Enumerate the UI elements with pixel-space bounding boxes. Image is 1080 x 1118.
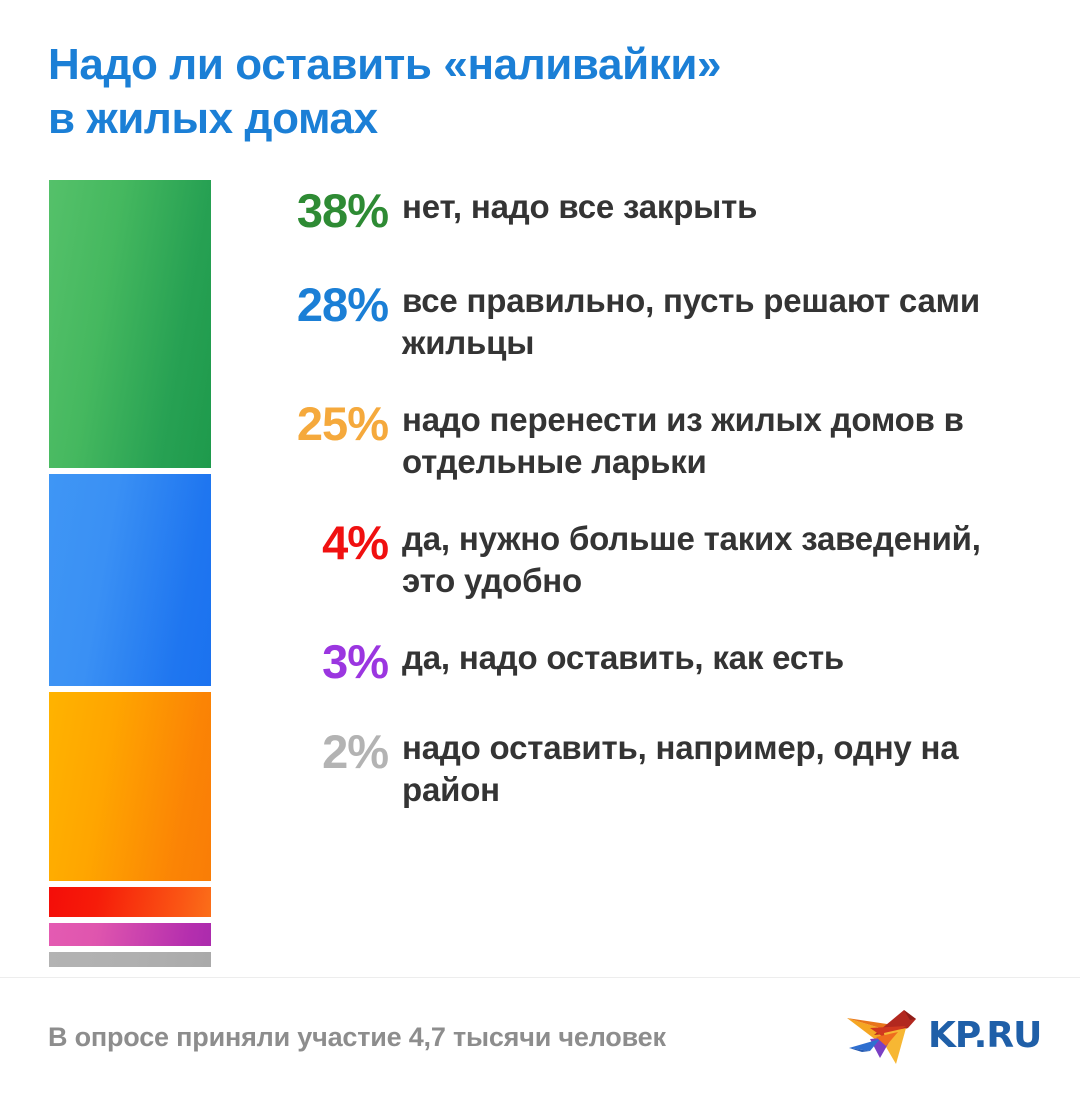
legend-percent: 3% [232,637,388,685]
legend-label: нет, надо все закрыть [388,186,1032,228]
legend: 38% нет, надо все закрыть 28% все правил… [232,186,1032,811]
bar-segment-green [49,180,211,468]
kp-ru-logo[interactable]: KP.RU [846,1005,1038,1067]
legend-percent: 28% [232,280,388,328]
legend-label: да, нужно больше таких заведений, это уд… [388,518,1032,601]
kp-ru-wordmark: KP.RU [928,1018,1041,1054]
bar-segment-blue [49,474,211,686]
legend-label: да, надо оставить, как есть [388,637,1032,679]
legend-percent: 38% [232,186,388,234]
legend-label: надо оставить, например, одну на район [388,727,1032,810]
legend-percent: 2% [232,727,388,775]
page-title: Надо ли оставить «наливайки» в жилых дом… [48,38,1008,145]
legend-percent: 25% [232,399,388,447]
bird-icon [846,1006,924,1066]
legend-percent: 4% [232,518,388,566]
bar-segment-red [49,887,211,917]
legend-label: надо перенести из жилых домов в отдельны… [388,399,1032,482]
bar-segment-gray [49,952,211,967]
legend-row: 25% надо перенести из жилых домов в отде… [232,399,1032,482]
page-title-line-1: Надо ли оставить «наливайки» [48,38,1008,92]
bar-segment-orange [49,692,211,881]
footer-divider [0,977,1080,978]
stacked-bar-chart [49,180,211,952]
page-title-line-2: в жилых домах [48,92,1008,146]
legend-row: 38% нет, надо все закрыть [232,186,1032,234]
legend-label: все правильно, пусть решают сами жильцы [388,280,1032,363]
legend-row: 2% надо оставить, например, одну на райо… [232,727,1032,810]
survey-sample-note: В опросе приняли участие 4,7 тысячи чело… [48,1022,666,1053]
legend-row: 28% все правильно, пусть решают сами жил… [232,280,1032,363]
bar-segment-magenta [49,923,211,945]
legend-row: 4% да, нужно больше таких заведений, это… [232,518,1032,601]
legend-row: 3% да, надо оставить, как есть [232,637,1032,685]
